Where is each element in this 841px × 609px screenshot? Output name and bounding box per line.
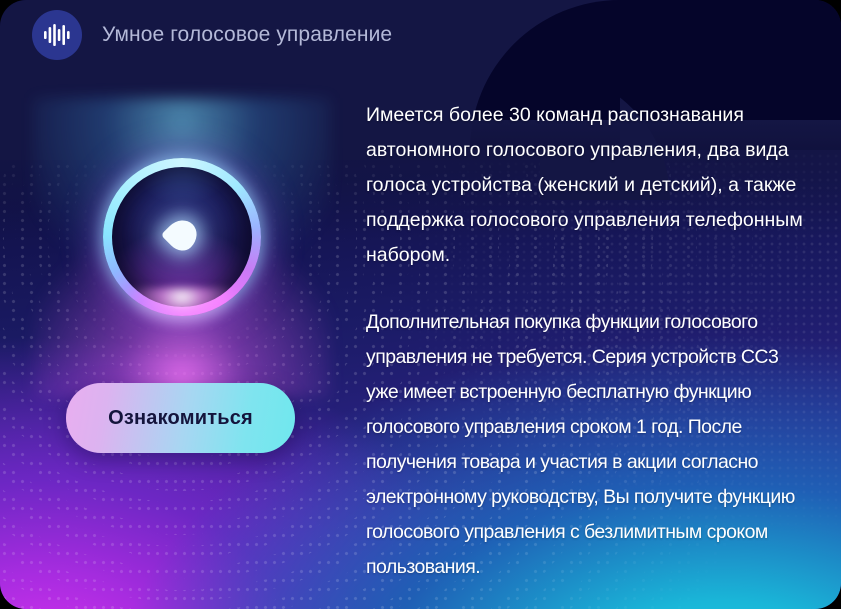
header: Умное голосовое управление xyxy=(0,0,392,70)
description-text: Имеется более 30 команд распознавания ав… xyxy=(366,98,814,585)
paragraph-1: Имеется более 30 команд распознавания ав… xyxy=(366,98,814,273)
sound-wave-icon xyxy=(32,10,82,60)
voice-assistant-orb xyxy=(103,158,261,316)
paragraph-2: Дополнительная покупка функции голосовог… xyxy=(366,305,814,585)
orb-bottom-flare xyxy=(125,288,239,332)
learn-more-button[interactable]: Ознакомиться xyxy=(66,383,295,453)
promo-card: Умное голосовое управление Ознакомиться … xyxy=(0,0,841,609)
page-title: Умное голосовое управление xyxy=(102,23,392,47)
